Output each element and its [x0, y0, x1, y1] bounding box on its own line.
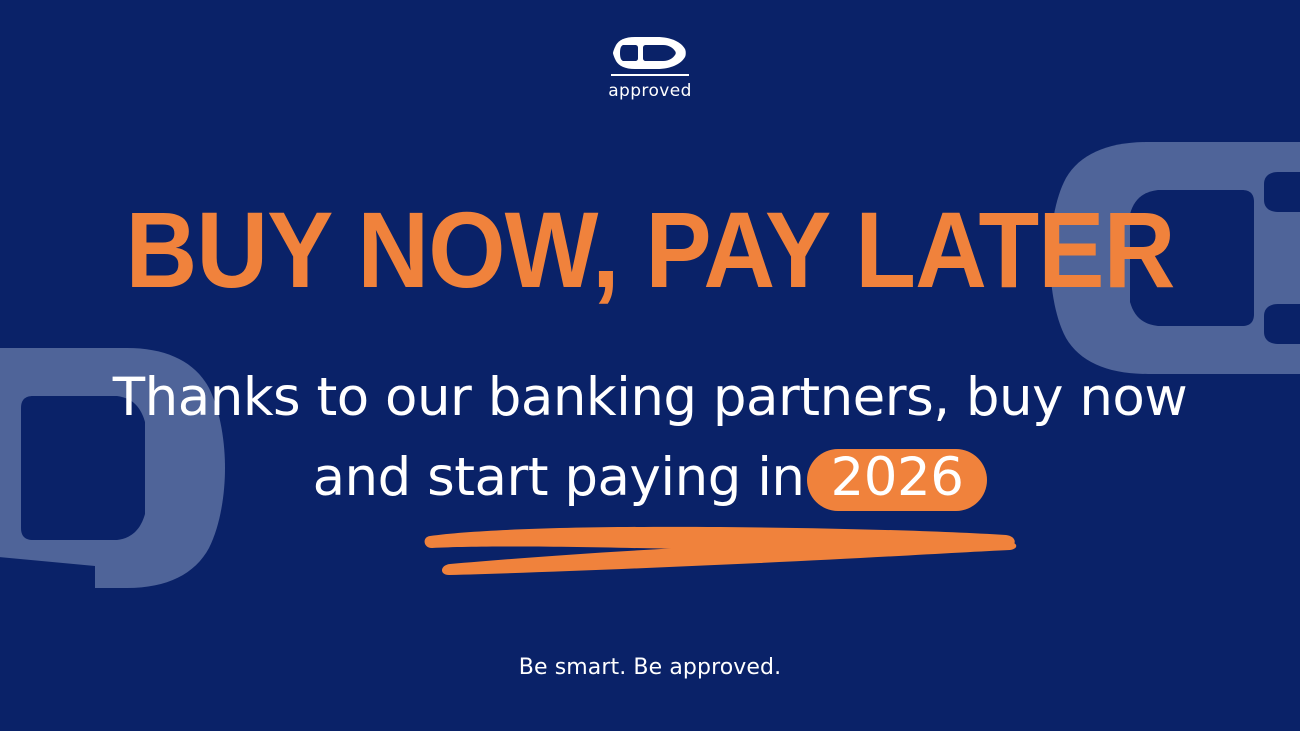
logo-divider: [611, 74, 689, 76]
underline-scribble-icon: [420, 512, 1020, 586]
car-top-view-icon: [613, 36, 687, 70]
page-title: BUY NOW, PAY LATER: [52, 196, 1248, 304]
logo-wordmark: approved: [608, 81, 692, 101]
brand-logo: approved: [0, 36, 1300, 101]
body-copy-line-1: Thanks to our banking partners, buy now: [0, 358, 1300, 438]
body-copy-line-2-prefix: and start paying in: [313, 447, 805, 508]
body-copy: Thanks to our banking partners, buy now …: [0, 358, 1300, 518]
body-copy-line-2: and start paying in2026: [0, 438, 1300, 518]
tagline: Be smart. Be approved.: [0, 655, 1300, 680]
year-highlight-badge: 2026: [807, 449, 988, 511]
promotional-banner: approved BUY NOW, PAY LATER Thanks to ou…: [0, 0, 1300, 731]
